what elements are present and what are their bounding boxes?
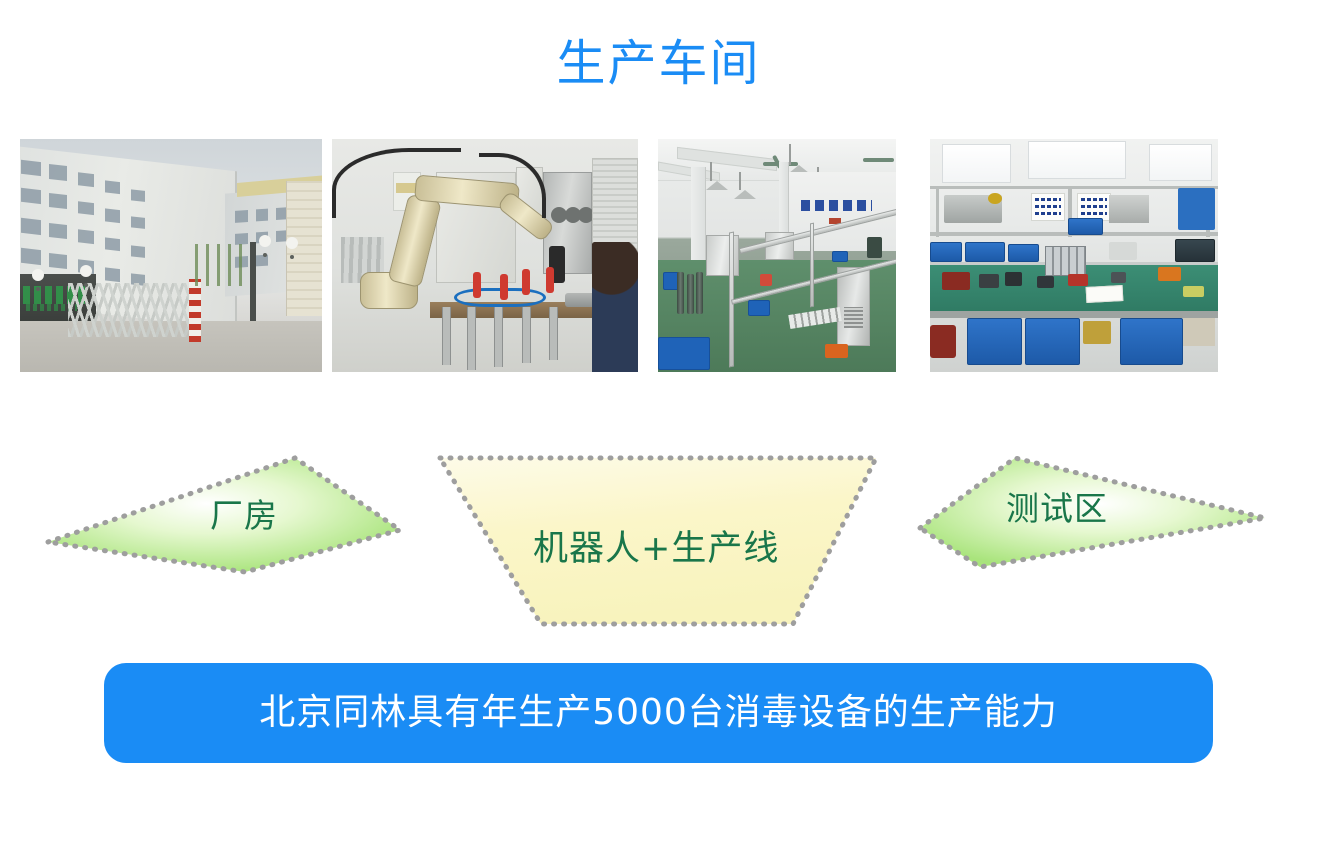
shape-label-testing-area: 测试区 xyxy=(1006,490,1108,528)
shape-label-workshop-building: 厂房 xyxy=(210,497,278,535)
shape-testing-area[interactable]: 测试区 xyxy=(910,452,1270,572)
shape-label-robot-production-line: 机器人+生产线 xyxy=(533,530,779,568)
shape-workshop-building[interactable]: 厂房 xyxy=(45,452,410,577)
photo-assembly-line xyxy=(658,139,896,372)
diagram-shapes: 厂房 机器人+生产线 xyxy=(0,430,1317,650)
page-root: 生产车间 xyxy=(0,0,1317,855)
capacity-banner[interactable]: 北京同林具有年生产5000台消毒设备的生产能力 xyxy=(104,663,1213,763)
shape-robot-production-line[interactable]: 机器人+生产线 xyxy=(428,452,888,632)
capacity-banner-text: 北京同林具有年生产5000台消毒设备的生产能力 xyxy=(259,691,1058,735)
photo-welding-robot xyxy=(332,139,638,372)
photo-strip xyxy=(20,139,1303,372)
page-title: 生产车间 xyxy=(0,34,1317,94)
photo-workbench xyxy=(930,139,1218,372)
photo-factory-exterior xyxy=(20,139,322,372)
